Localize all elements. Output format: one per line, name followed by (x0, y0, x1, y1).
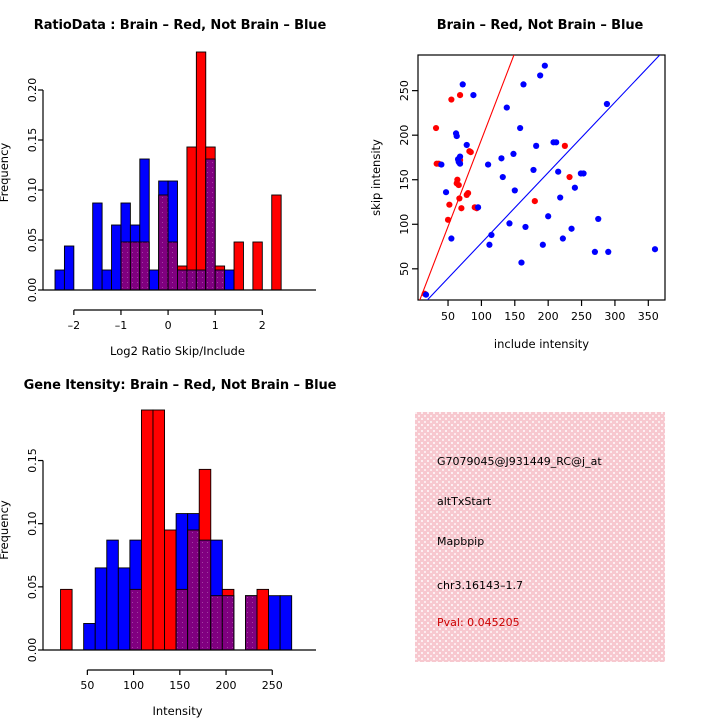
scatter-point (530, 167, 536, 173)
intensity-scatter-plot: 5010015020025050100150200250300350includ… (360, 0, 720, 360)
histogram-bar-overlap (140, 242, 149, 290)
y-tick-label: 0.20 (26, 78, 39, 103)
x-tick-label: 200 (216, 679, 237, 692)
data-points (422, 63, 659, 298)
scatter-point (595, 216, 601, 222)
scatter-point (446, 202, 452, 208)
scatter-point (537, 72, 543, 78)
scatter-point (555, 169, 561, 175)
x-tick-label: –2 (68, 319, 81, 332)
panel-annotation-info: G7079045@J931449_RC@j_at altTxStart Mapb… (360, 360, 720, 720)
scatter-point (465, 190, 471, 196)
scatter-point (464, 142, 470, 148)
histogram-bar-overlap (199, 540, 211, 650)
y-tick-label: 0.10 (26, 178, 39, 203)
histogram-bar-overlap (187, 270, 196, 290)
x-tick-label: 150 (169, 679, 190, 692)
scatter-point (457, 161, 463, 167)
histogram-bar (102, 270, 111, 290)
y-tick-label: 50 (398, 262, 411, 276)
scatter-point (506, 220, 512, 226)
locus-text: chr3.16143–1.7 (437, 579, 523, 592)
histogram-bar-overlap (159, 195, 168, 290)
histogram-bar-overlap (178, 270, 187, 290)
panel-gene-intensity-histogram: Gene Itensity: Brain – Red, Not Brain – … (0, 360, 360, 720)
x-tick-label: 150 (504, 310, 525, 323)
y-tick-label: 0.00 (26, 638, 39, 663)
histogram-bar (55, 270, 64, 290)
y-tick-label: 0.00 (26, 278, 39, 303)
scatter-point (443, 189, 449, 195)
scatter-point (566, 174, 572, 180)
plot-box (418, 55, 665, 300)
scatter-point (488, 232, 494, 238)
scatter-point (458, 205, 464, 211)
scatter-point (470, 92, 476, 98)
histogram-bar-overlap (215, 270, 224, 290)
histogram-bar-overlap (188, 530, 200, 650)
scatter-point (504, 104, 510, 110)
scatter-point (485, 161, 491, 167)
histogram-bar-overlap (168, 242, 177, 290)
scatter-point (545, 213, 551, 219)
histogram-bar (61, 589, 73, 650)
histogram-bar (141, 410, 153, 650)
scatter-point (448, 235, 454, 241)
scatter-point (457, 92, 463, 98)
scatter-point (522, 224, 528, 230)
histogram-bar-overlap (196, 270, 205, 290)
scatter-point (457, 153, 463, 159)
scatter-point (454, 133, 460, 139)
y-tick-label: 0.15 (26, 448, 39, 473)
scatter-point (448, 96, 454, 102)
reference-lines (418, 0, 665, 310)
histogram-bar (187, 147, 196, 290)
scatter-point (652, 246, 658, 252)
x-axis-title: Log2 Ratio Skip/Include (110, 344, 245, 358)
histogram-bar (269, 596, 281, 650)
scatter-point (542, 63, 548, 69)
histogram-bar-overlap (130, 589, 142, 650)
scatter-point (460, 81, 466, 87)
scatter-point (540, 242, 546, 248)
gene-intensity-histogram-plot: 0.000.050.100.1550100150200250IntensityF… (0, 360, 360, 720)
histogram-bar (257, 589, 269, 650)
histogram-bar (280, 596, 292, 650)
scatter-point (592, 249, 598, 255)
scatter-point (498, 155, 504, 161)
histogram-bar (234, 242, 243, 290)
scatter-point (438, 161, 444, 167)
y-tick-label: 0.05 (26, 575, 39, 600)
scatter-point (454, 177, 460, 183)
histogram-bar (272, 195, 281, 290)
scatter-point (533, 143, 539, 149)
scatter-point (532, 198, 538, 204)
scatter-point (580, 170, 586, 176)
x-axis-title: include intensity (494, 337, 589, 351)
scatter-point (562, 143, 568, 149)
histogram-bar-overlap (211, 596, 223, 650)
histogram-bars (55, 52, 281, 290)
scatter-point (517, 125, 523, 131)
y-tick-label: 200 (398, 125, 411, 146)
x-tick-label: 200 (538, 310, 559, 323)
x-tick-label: 250 (571, 310, 592, 323)
probe-id-text: G7079045@J931449_RC@j_at (437, 455, 602, 468)
histogram-bar-overlap (206, 159, 215, 290)
scatter-point (560, 235, 566, 241)
histogram-bar-overlap (130, 242, 139, 290)
x-tick-label: 100 (123, 679, 144, 692)
scatter-point (572, 185, 578, 191)
axes: 5010015020025050100150200250300350 (398, 80, 659, 323)
ratio-histogram-plot: 0.000.050.100.150.20–2–1012Log2 Ratio Sk… (0, 0, 360, 360)
scatter-point (445, 217, 451, 223)
x-tick-label: 250 (262, 679, 283, 692)
histogram-bar (64, 246, 73, 290)
x-tick-label: 2 (259, 319, 266, 332)
histogram-bar-overlap (222, 596, 234, 650)
y-tick-label: 0.10 (26, 511, 39, 536)
scatter-point (456, 182, 462, 188)
scatter-point (512, 187, 518, 193)
histogram-bar (253, 242, 262, 290)
pvalue-text: Pval: 0.045205 (437, 616, 520, 629)
y-axis-title: Frequency (0, 143, 11, 203)
scatter-point (520, 81, 526, 87)
event-type-text: altTxStart (437, 495, 491, 508)
scatter-point (500, 174, 506, 180)
y-tick-label: 100 (398, 214, 411, 235)
histogram-bar (107, 540, 119, 650)
x-tick-label: 100 (471, 310, 492, 323)
histogram-bar (93, 203, 102, 290)
histogram-bar (196, 52, 205, 290)
histogram-bar (112, 225, 121, 290)
scatter-point (468, 149, 474, 155)
histogram-bar (118, 568, 130, 650)
histogram-bar-overlap (176, 589, 188, 650)
scatter-point (475, 204, 481, 210)
scatter-point (557, 194, 563, 200)
histogram-bar (225, 270, 234, 290)
x-tick-label: 300 (604, 310, 625, 323)
scatter-point (568, 226, 574, 232)
y-axis-title: skip intensity (369, 139, 383, 216)
brain-fit-line (418, 0, 665, 305)
y-tick-label: 150 (398, 169, 411, 190)
x-tick-label: 1 (212, 319, 219, 332)
histogram-bar (95, 568, 107, 650)
scatter-point (433, 125, 439, 131)
histogram-bar (153, 410, 165, 650)
histogram-bars (61, 410, 292, 650)
gene-symbol-text: Mapbpip (437, 535, 484, 548)
y-tick-label: 0.15 (26, 128, 39, 153)
panel-ratio-histogram: RatioData : Brain – Red, Not Brain – Blu… (0, 0, 360, 360)
x-tick-label: 50 (441, 310, 455, 323)
histogram-bar (165, 530, 177, 650)
panel-scatter-plot: Brain – Red, Not Brain – Blue 5010015020… (360, 0, 720, 360)
figure-canvas: RatioData : Brain – Red, Not Brain – Blu… (0, 0, 720, 720)
scatter-point (423, 292, 429, 298)
y-tick-label: 0.05 (26, 228, 39, 253)
y-tick-label: 250 (398, 80, 411, 101)
scatter-point (456, 195, 462, 201)
scatter-point (604, 101, 610, 107)
x-tick-label: 350 (638, 310, 659, 323)
x-tick-label: 50 (80, 679, 94, 692)
histogram-bar (84, 623, 96, 650)
info-box: G7079045@J931449_RC@j_at altTxStart Mapb… (415, 412, 665, 662)
scatter-point (553, 139, 559, 145)
x-tick-label: 0 (165, 319, 172, 332)
x-axis-title: Intensity (152, 704, 202, 718)
scatter-point (605, 249, 611, 255)
scatter-point (510, 151, 516, 157)
histogram-bar-overlap (121, 242, 130, 290)
scatter-point (486, 242, 492, 248)
y-axis-title: Frequency (0, 500, 11, 560)
histogram-bar (149, 270, 158, 290)
scatter-point (518, 259, 524, 265)
histogram-bar-overlap (245, 596, 257, 650)
x-tick-label: –1 (115, 319, 128, 332)
